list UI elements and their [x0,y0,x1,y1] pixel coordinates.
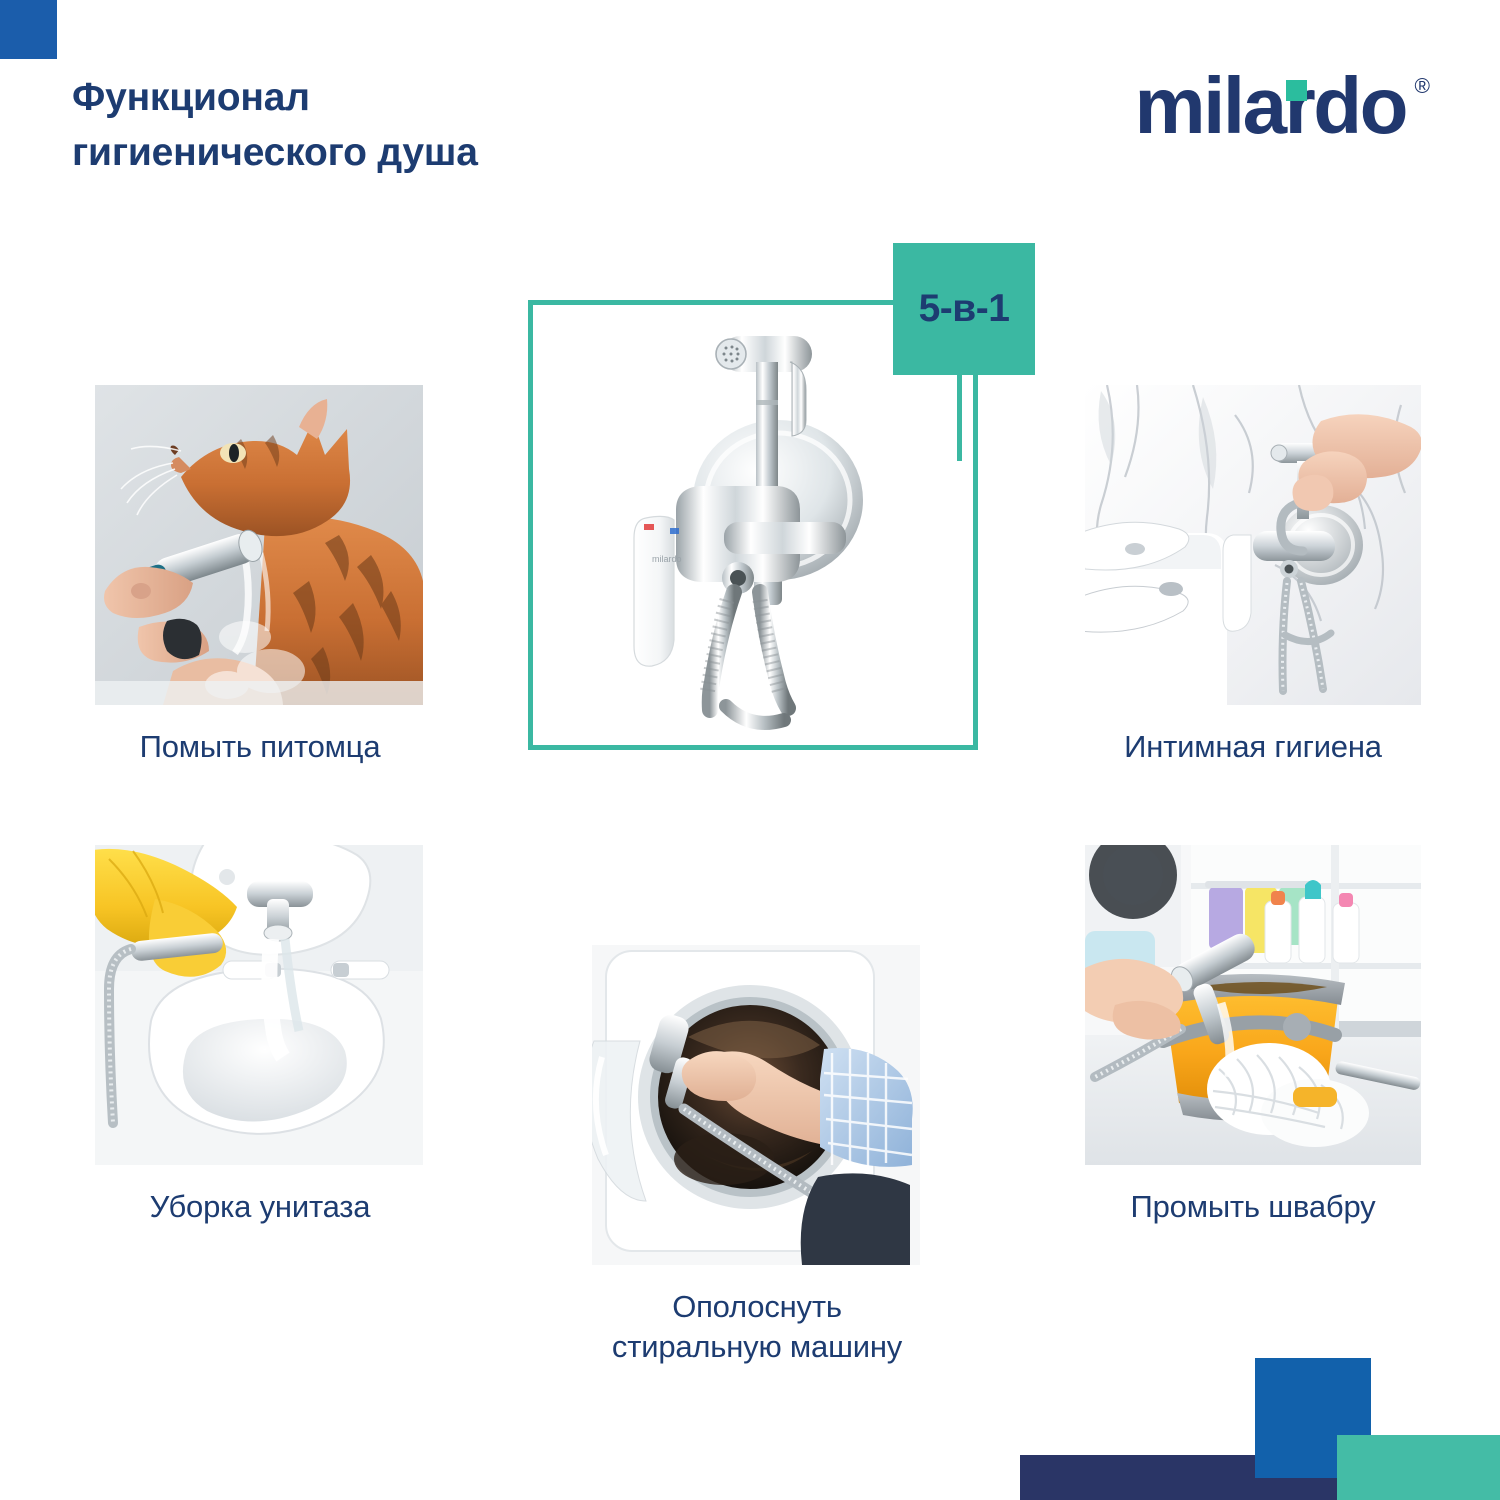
feature-card-wash-pet: Помыть питомца [95,385,425,767]
badge-5-in-1: 5-в-1 [893,243,1035,375]
feature-card-intimate-hygiene: Интимная гигиена [1085,385,1421,767]
corner-accent-square-top-left [0,0,57,59]
caption-line-1: Ополоснуть [592,1287,922,1327]
photo-rinse-mop [1085,845,1421,1165]
page-title-line-2: гигиенического душа [72,125,692,180]
feature-card-rinse-washing-machine: Ополоснуть стиральную машину [592,945,922,1368]
infographic-canvas: Функционал гигиенического душа milardo ® [0,0,1500,1500]
feature-card-toilet-cleaning: Уборка унитаза [95,845,425,1227]
photo-wash-pet [95,385,423,705]
badge-label: 5-в-1 [919,287,1010,331]
feature-card-rinse-mop: Промыть швабру [1085,845,1421,1227]
registered-trademark-icon: ® [1415,76,1430,97]
caption-rinse-mop: Промыть швабру [1085,1187,1421,1227]
brand-logo-dot-icon [1286,80,1307,101]
photo-intimate-hygiene [1085,385,1421,705]
caption-toilet-cleaning: Уборка унитаза [95,1187,425,1227]
badge-connector-line [957,375,962,461]
brand-logo-text: milardo [1135,66,1406,146]
page-title-line-1: Функционал [72,70,692,125]
corner-accent-square-teal [1337,1435,1500,1500]
photo-washing-machine [592,945,920,1265]
caption-rinse-washing-machine: Ополоснуть стиральную машину [592,1287,922,1368]
caption-wash-pet: Помыть питомца [95,727,425,767]
brand-logo: milardo ® [1080,66,1430,156]
caption-line-2: стиральную машину [592,1327,922,1367]
photo-toilet-cleaning [95,845,423,1165]
caption-intimate-hygiene: Интимная гигиена [1085,727,1421,767]
page-title: Функционал гигиенического душа [72,70,692,181]
